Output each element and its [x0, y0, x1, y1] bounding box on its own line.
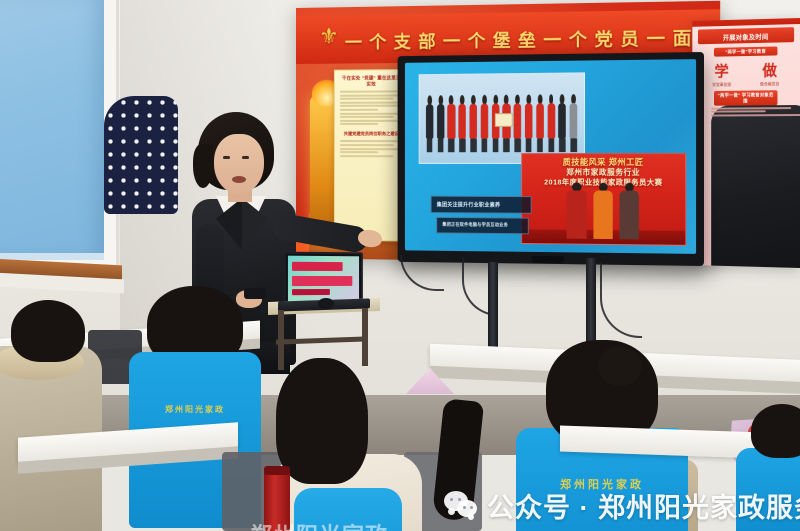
presenter-eye	[242, 156, 249, 159]
poster-tag-2: "两学一做" 学习教育对象范围	[714, 90, 777, 106]
poster-tag-1: "两学一做"学习教育	[714, 46, 777, 56]
attendee-hair	[276, 358, 368, 484]
poster-big-sub: 学党章党规 做合格党员	[698, 81, 794, 88]
presenter-mouth	[232, 176, 246, 183]
slide-bullet-1: 集团关注提升行业职业素养	[430, 196, 532, 214]
banner-char: 个	[566, 23, 592, 51]
list-item	[232, 358, 412, 531]
poster-char-xue: 学	[714, 61, 728, 82]
tv-brand-strip	[532, 256, 564, 263]
slide-group-photo	[419, 72, 585, 164]
poster-sub-2: 做合格党员	[760, 81, 779, 87]
volunteer-vest	[736, 448, 800, 531]
laptop-slide	[288, 256, 359, 303]
banner-char: 一	[643, 22, 669, 51]
poster-sub-1: 学党章党规	[712, 82, 731, 88]
banner-char: 垒	[515, 24, 540, 52]
banner-char: 个	[465, 25, 490, 53]
stage-title-line1: 质技能风采 郑州工匠	[523, 157, 685, 168]
vest-text: 郑州阳光家政	[165, 404, 225, 415]
thermos-cap	[264, 466, 290, 475]
certificate-prop	[494, 113, 512, 127]
banner-char: 员	[617, 23, 643, 52]
wall-display[interactable]: 质技能风采 郑州工匠 郑州市家政服务行业 2018年度职业技能家政服务员大赛 集…	[398, 52, 704, 266]
window-frame	[0, 0, 119, 286]
hair-bun	[598, 346, 642, 386]
banner-char: 一	[540, 24, 566, 52]
polka-dot-jacket	[104, 96, 178, 214]
window-blind	[0, 0, 104, 260]
tv-screen: 质技能风采 郑州工匠 郑州市家政服务行业 2018年度职业技能家政服务员大赛 集…	[405, 59, 696, 254]
banner-char: 支	[391, 26, 416, 54]
presenter-face	[214, 134, 264, 194]
banner-char: 个	[366, 26, 390, 54]
banner-char: 一	[342, 26, 366, 54]
poster-body-text-2	[711, 105, 800, 268]
banner-char: 堡	[490, 24, 515, 52]
hammer-sickle-icon: ⚜	[316, 23, 342, 49]
list-item	[742, 404, 800, 531]
slide-award-photo: 质技能风采 郑州工匠 郑州市家政服务行业 2018年度职业技能家政服务员大赛	[522, 153, 686, 246]
poster-header-tag: 开展对象及时间	[698, 27, 794, 44]
stage-title-line2: 郑州市家政服务行业	[523, 168, 685, 178]
slide-bullet-2: 集团正在软件电脑与学员互动业务	[436, 217, 529, 234]
attendee-hair	[751, 404, 800, 458]
attendee-hair	[11, 300, 85, 362]
poster-big-chars: 学 做	[698, 59, 794, 81]
banner-char: 部	[415, 25, 440, 53]
computer-mouse[interactable]	[318, 298, 334, 309]
vest-text: 郑州阳光家政	[560, 476, 644, 492]
banner-char: 一	[440, 25, 465, 53]
banner-char: 党	[591, 23, 617, 51]
poster-char-zuo: 做	[762, 60, 777, 81]
panel-heading: 干在实处 "党建" 重在这里见实效	[340, 75, 403, 88]
screenshot-root: ⚜ 一 个 支 部 一 个 堡 垒 一 个 党 员 一 面 旗 帜 干在实处 "…	[0, 0, 800, 531]
party-education-poster: 开展对象及时间 "两学一做"学习教育 学 做 学党章党规 做合格党员 "两学一做…	[692, 18, 800, 268]
presenter-eye	[223, 156, 230, 159]
watermark-secondary: 郑州阳光家政	[250, 518, 388, 531]
list-item	[0, 300, 108, 531]
tv-bezel: 质技能风采 郑州工匠 郑州市家政服务行业 2018年度职业技能家政服务员大赛 集…	[398, 52, 704, 266]
award-winners	[561, 182, 645, 239]
